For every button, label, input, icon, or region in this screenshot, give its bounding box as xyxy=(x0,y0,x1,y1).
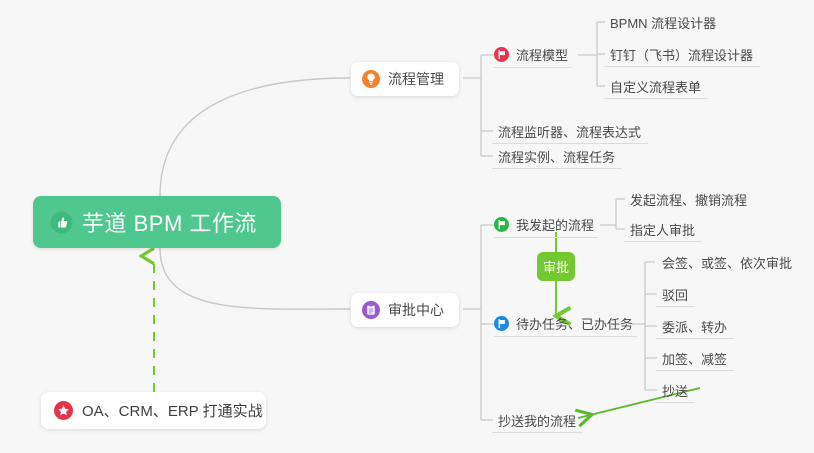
approval-tag-label: 审批 xyxy=(543,257,569,276)
clipboard-icon xyxy=(362,301,380,319)
integration-card-label: OA、CRM、ERP 打通实战 xyxy=(82,400,263,421)
leaf-start-cancel-process[interactable]: 发起流程、撤销流程 xyxy=(624,187,754,212)
branch-label-approval-center: 审批中心 xyxy=(388,300,444,320)
thumbs-up-icon xyxy=(50,211,73,234)
leaf-custom-process-form[interactable]: 自定义流程表单 xyxy=(604,74,708,99)
node-my-initiated-process[interactable]: 我发起的流程 xyxy=(494,212,598,238)
wire-root-to-approval-center xyxy=(160,248,350,309)
lightbulb-icon xyxy=(362,70,380,88)
leaf-countersign-modes[interactable]: 会签、或签、依次审批 xyxy=(656,250,799,275)
integration-card[interactable]: OA、CRM、ERP 打通实战 xyxy=(41,392,266,429)
mindmap-canvas: 芋道 BPM 工作流 流程管理 流程模型 BPMN 流程设计器 钉钉（飞书）流程… xyxy=(0,0,814,453)
leaf-dingtalk-feishu-designer[interactable]: 钉钉（飞书）流程设计器 xyxy=(604,42,760,67)
wire-root-to-process-management xyxy=(160,78,350,196)
approval-tag[interactable]: 审批 xyxy=(537,252,575,281)
leaf-cc-my-process[interactable]: 抄送我的流程 xyxy=(492,408,583,433)
leaf-assigned-approval[interactable]: 指定人审批 xyxy=(624,217,702,242)
leaf-bpmn-designer[interactable]: BPMN 流程设计器 xyxy=(604,10,723,35)
branch-label-process-management: 流程管理 xyxy=(388,69,444,89)
leaf-process-listener-expression[interactable]: 流程监听器、流程表达式 xyxy=(492,119,648,144)
node-label-my-initiated-process: 我发起的流程 xyxy=(516,215,594,234)
branch-node-approval-center[interactable]: 审批中心 xyxy=(351,293,459,327)
node-label-todo-done-tasks: 待办任务、已办任务 xyxy=(516,314,633,333)
branch-node-process-management[interactable]: 流程管理 xyxy=(351,62,459,96)
node-todo-done-tasks[interactable]: 待办任务、已办任务 xyxy=(494,311,637,337)
leaf-add-remove-sign[interactable]: 加签、减签 xyxy=(656,346,734,371)
root-node[interactable]: 芋道 BPM 工作流 xyxy=(33,196,281,248)
leaf-reject[interactable]: 驳回 xyxy=(656,282,695,307)
root-label: 芋道 BPM 工作流 xyxy=(82,206,257,238)
flag-icon xyxy=(494,217,509,232)
leaf-process-instance-task[interactable]: 流程实例、流程任务 xyxy=(492,144,622,169)
flag-icon xyxy=(494,316,509,331)
flag-icon xyxy=(494,47,509,62)
leaf-cc[interactable]: 抄送 xyxy=(656,378,695,403)
node-label-process-model: 流程模型 xyxy=(516,45,568,64)
star-icon xyxy=(54,401,73,420)
node-process-model[interactable]: 流程模型 xyxy=(494,42,572,68)
leaf-delegate-transfer[interactable]: 委派、转办 xyxy=(656,314,734,339)
